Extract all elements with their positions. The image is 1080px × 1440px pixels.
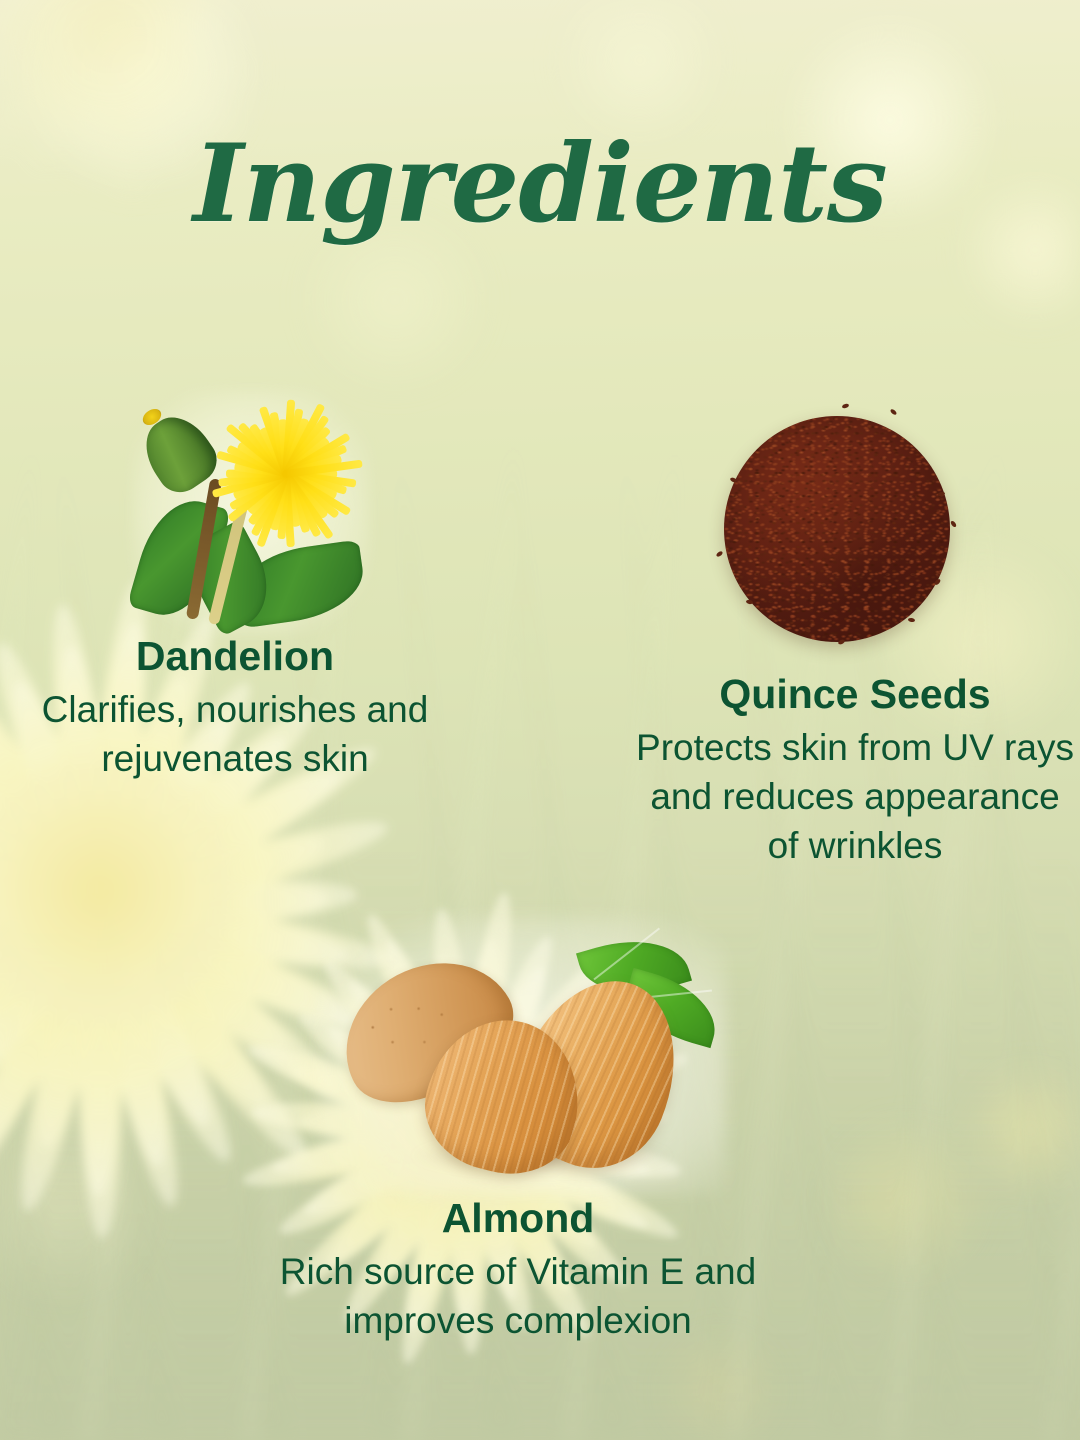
ingredient-block-almond: Almond Rich source of Vitamin E and impr… [228,1196,808,1346]
almond-image [332,930,712,1180]
ingredient-name-almond: Almond [228,1196,808,1242]
quince-seed-pile [724,416,950,642]
quince-stray-seed [715,550,723,557]
ingredient-description-almond: Rich source of Vitamin E and improves co… [228,1248,808,1346]
ingredient-name-dandelion: Dandelion [10,634,460,680]
quince-stray-seed [842,403,850,409]
quince-seed-grain-texture [724,416,950,642]
page-title: Ingredients [0,128,1080,241]
ingredient-description-quince-seeds: Protects skin from UV rays and reduces a… [630,724,1080,870]
quince-stray-seed [837,639,845,646]
quince-stray-seed [890,408,898,416]
quince-seeds-image [712,404,962,654]
quince-stray-seed [950,520,957,528]
ingredients-infographic: Ingredients [0,0,1080,1440]
ingredient-description-dandelion: Clarifies, nourishes and rejuvenates ski… [10,686,460,784]
quince-stray-seed [908,618,915,623]
ingredient-block-dandelion: Dandelion Clarifies, nourishes and rejuv… [10,634,460,784]
ingredient-block-quince-seeds: Quince Seeds Protects skin from UV rays … [630,672,1080,870]
dandelion-bloom [212,406,360,534]
ingredient-name-quince-seeds: Quince Seeds [630,672,1080,718]
dandelion-image [140,398,362,626]
